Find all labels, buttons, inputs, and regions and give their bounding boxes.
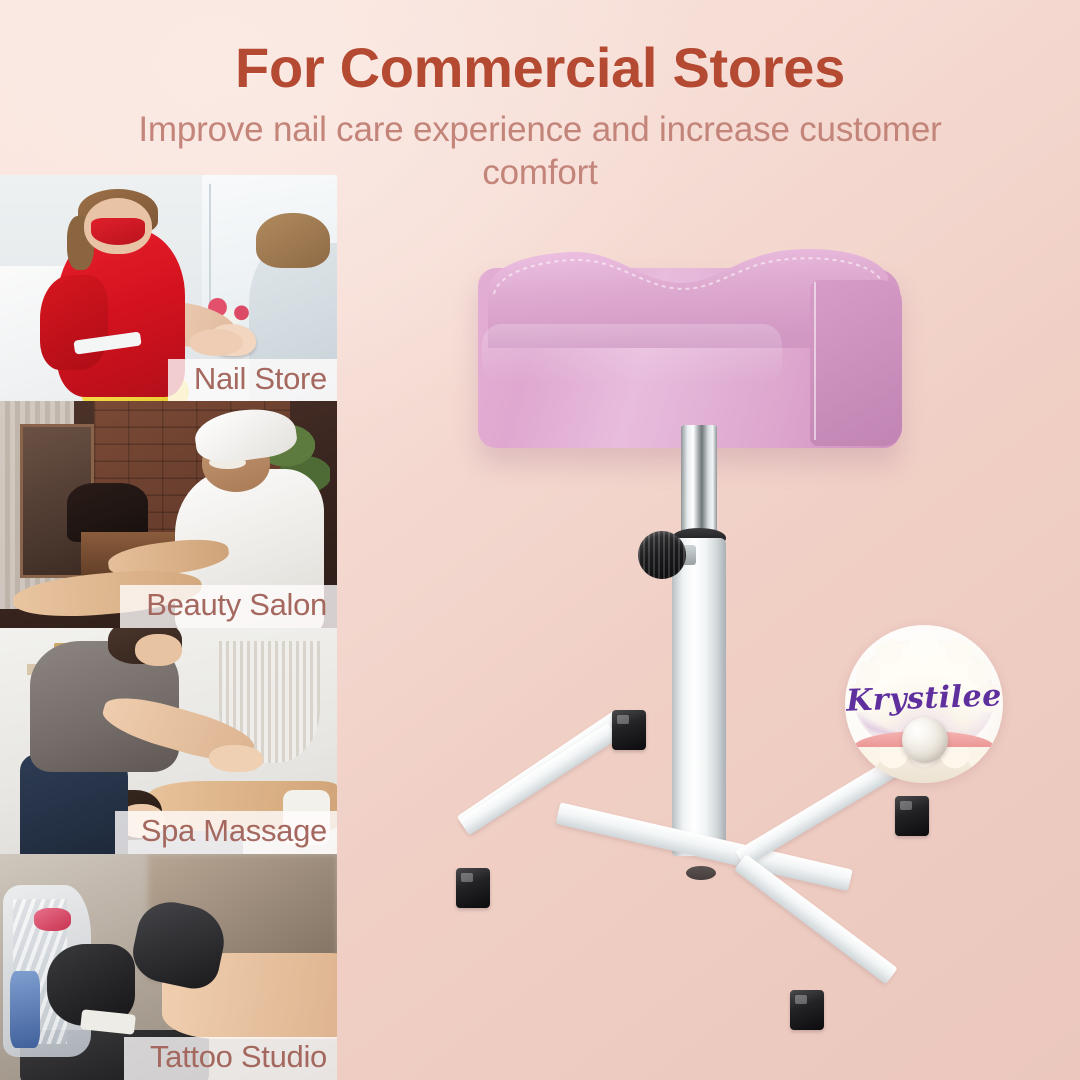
use-case-thumb-beauty-salon: Beauty Salon — [0, 401, 337, 627]
brand-logo-badge: Krystilee — [845, 625, 1003, 783]
foot-cap-back-right — [895, 796, 929, 836]
use-case-label-spa-massage: Spa Massage — [115, 811, 337, 854]
cushion-edge-highlight — [814, 282, 816, 440]
use-case-label-beauty-salon: Beauty Salon — [120, 585, 337, 628]
use-case-thumbnail-column: Nail Store Beauty Salon — [0, 175, 337, 1080]
pearl-icon — [902, 717, 948, 763]
use-case-label-nail-store: Nail Store — [168, 359, 337, 402]
brand-name: Krystilee — [845, 678, 1003, 718]
cushion-side-face — [810, 280, 902, 446]
product-marketing-image: For Commercial Stores Improve nail care … — [0, 0, 1080, 1080]
height-adjustment-knob[interactable] — [638, 531, 686, 579]
foot-cap-left — [456, 868, 490, 908]
chrome-telescoping-post — [681, 425, 717, 545]
cushion-highlight — [482, 324, 782, 384]
foot-cap-front-right — [790, 990, 824, 1030]
use-case-thumb-nail-store: Nail Store — [0, 175, 337, 401]
frame-center-hub — [686, 866, 716, 880]
use-case-thumb-spa-massage: Spa Massage — [0, 628, 337, 854]
foot-cap-back-left — [612, 710, 646, 750]
use-case-label-tattoo-studio: Tattoo Studio — [124, 1037, 337, 1080]
page-subtitle: Improve nail care experience and increas… — [130, 109, 950, 194]
header-block: For Commercial Stores Improve nail care … — [130, 38, 950, 195]
use-case-thumb-tattoo-studio: Tattoo Studio — [0, 854, 337, 1080]
page-title: For Commercial Stores — [130, 38, 950, 97]
